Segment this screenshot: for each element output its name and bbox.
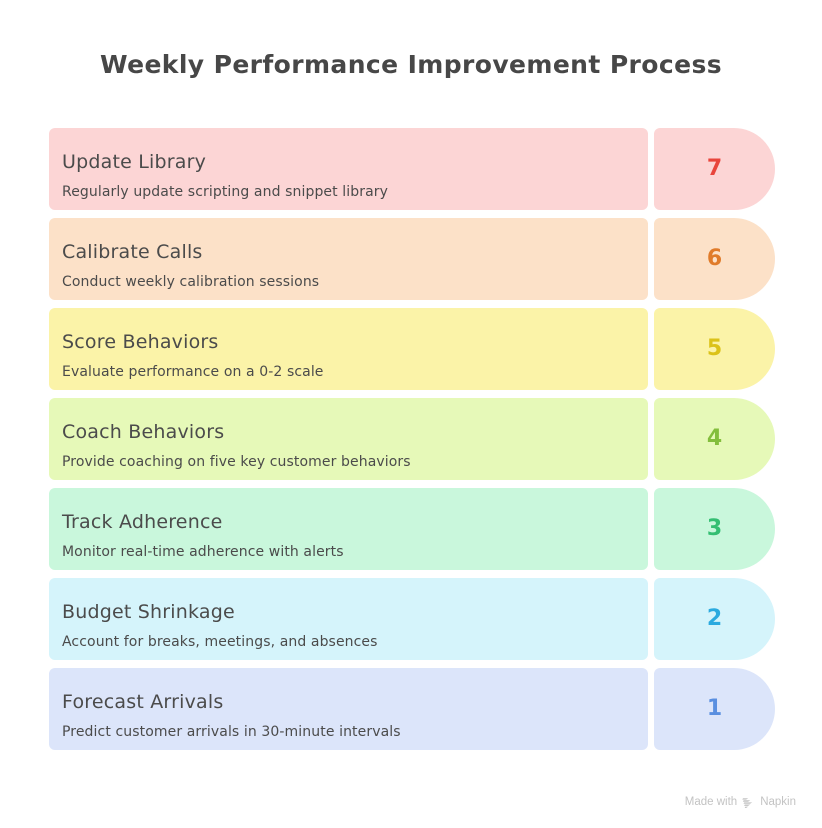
process-step-title: Budget Shrinkage [62, 603, 648, 622]
process-step-title: Forecast Arrivals [62, 693, 648, 712]
process-step-number: 2 [707, 608, 722, 630]
process-step-title: Score Behaviors [62, 333, 648, 352]
process-step-row[interactable]: Calibrate CallsConduct weekly calibratio… [49, 218, 775, 300]
process-step-number: 4 [707, 428, 722, 450]
process-step-number-badge[interactable]: 4 [654, 398, 775, 480]
page-title: Weekly Performance Improvement Process [0, 50, 822, 79]
process-step-description: Predict customer arrivals in 30-minute i… [62, 725, 648, 739]
diagram-canvas: Weekly Performance Improvement Process U… [0, 0, 822, 828]
process-step-description: Account for breaks, meetings, and absenc… [62, 635, 648, 649]
process-step-number-badge[interactable]: 6 [654, 218, 775, 300]
process-step-number-badge[interactable]: 5 [654, 308, 775, 390]
process-step-number: 5 [707, 338, 722, 360]
process-step-body[interactable]: Update LibraryRegularly update scripting… [49, 128, 648, 210]
footer-made-with-label: Made with [685, 796, 737, 808]
process-step-body[interactable]: Coach BehaviorsProvide coaching on five … [49, 398, 648, 480]
footer-attribution: Made with Napkin [685, 795, 796, 808]
napkin-chevron-logo-icon [742, 796, 755, 809]
process-step-list: Update LibraryRegularly update scripting… [49, 128, 775, 758]
process-step-body[interactable]: Track AdherenceMonitor real-time adheren… [49, 488, 648, 570]
process-step-title: Track Adherence [62, 513, 648, 532]
process-step-number-badge[interactable]: 7 [654, 128, 775, 210]
process-step-number-badge[interactable]: 1 [654, 668, 775, 750]
process-step-description: Conduct weekly calibration sessions [62, 275, 648, 289]
process-step-row[interactable]: Budget ShrinkageAccount for breaks, meet… [49, 578, 775, 660]
process-step-title: Calibrate Calls [62, 243, 648, 262]
process-step-row[interactable]: Score BehaviorsEvaluate performance on a… [49, 308, 775, 390]
process-step-number: 6 [707, 248, 722, 270]
process-step-row[interactable]: Track AdherenceMonitor real-time adheren… [49, 488, 775, 570]
process-step-number-badge[interactable]: 3 [654, 488, 775, 570]
process-step-row[interactable]: Forecast ArrivalsPredict customer arriva… [49, 668, 775, 750]
process-step-description: Provide coaching on five key customer be… [62, 455, 648, 469]
process-step-number-badge[interactable]: 2 [654, 578, 775, 660]
process-step-body[interactable]: Forecast ArrivalsPredict customer arriva… [49, 668, 648, 750]
process-step-description: Monitor real-time adherence with alerts [62, 545, 648, 559]
process-step-title: Coach Behaviors [62, 423, 648, 442]
process-step-body[interactable]: Calibrate CallsConduct weekly calibratio… [49, 218, 648, 300]
footer-brand-label: Napkin [760, 796, 796, 808]
process-step-number: 3 [707, 518, 722, 540]
process-step-row[interactable]: Update LibraryRegularly update scripting… [49, 128, 775, 210]
process-step-body[interactable]: Budget ShrinkageAccount for breaks, meet… [49, 578, 648, 660]
process-step-description: Regularly update scripting and snippet l… [62, 185, 648, 199]
process-step-title: Update Library [62, 153, 648, 172]
process-step-body[interactable]: Score BehaviorsEvaluate performance on a… [49, 308, 648, 390]
process-step-row[interactable]: Coach BehaviorsProvide coaching on five … [49, 398, 775, 480]
process-step-number: 1 [707, 698, 722, 720]
process-step-description: Evaluate performance on a 0-2 scale [62, 365, 648, 379]
process-step-number: 7 [707, 158, 722, 180]
